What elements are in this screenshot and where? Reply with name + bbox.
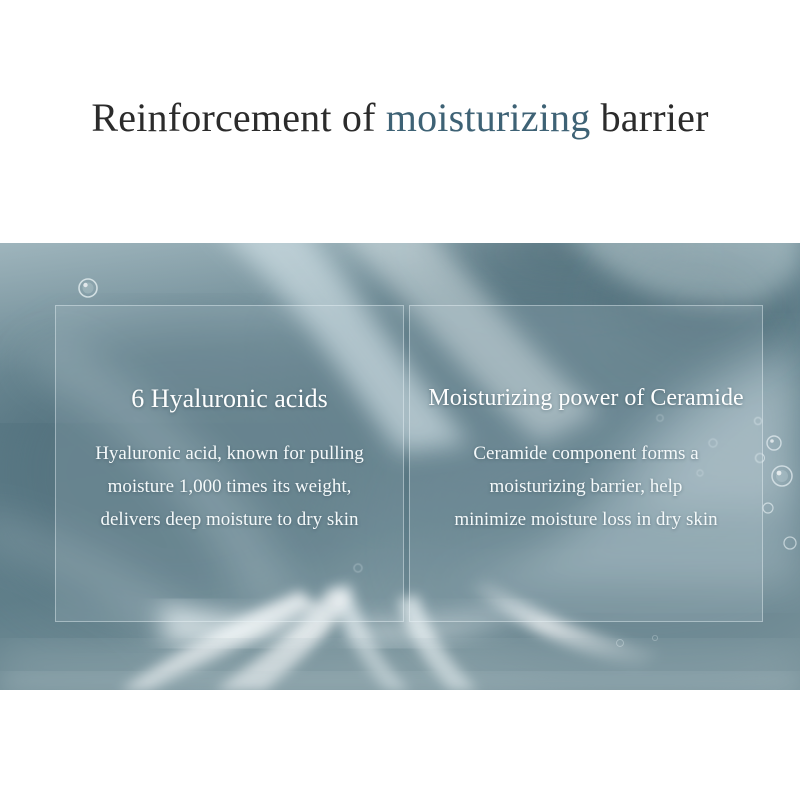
panel-body-ceramide: Ceramide component forms a moisturizing … (448, 437, 723, 536)
title-section: Reinforcement of moisturizing barrier (0, 0, 800, 243)
page-title-suffix: barrier (590, 95, 708, 140)
page-title: Reinforcement of moisturizing barrier (91, 98, 708, 138)
panel-body-line: moisturizing barrier, help (454, 470, 717, 503)
panel-heading-ceramide: Moisturizing power of Ceramide (428, 386, 743, 410)
panel-body-line: moisture 1,000 times its weight, (95, 470, 364, 503)
panel-body-line: delivers deep moisture to dry skin (95, 503, 364, 536)
panel-body-hyaluronic-acid: Hyaluronic acid, known for pulling moist… (89, 437, 370, 536)
panel-body-line: minimize moisture loss in dry skin (454, 503, 717, 536)
benefit-panel-ceramide: Moisturizing power of Ceramide Ceramide … (409, 305, 763, 622)
panel-heading-hyaluronic-acid: 6 Hyaluronic acids (131, 386, 327, 412)
page-title-prefix: Reinforcement of (91, 95, 385, 140)
water-texture-banner: 6 Hyaluronic acids Hyaluronic acid, know… (0, 243, 800, 690)
benefit-panel-hyaluronic-acid: 6 Hyaluronic acids Hyaluronic acid, know… (55, 305, 404, 622)
benefit-panels: 6 Hyaluronic acids Hyaluronic acid, know… (55, 305, 763, 622)
panel-body-line: Hyaluronic acid, known for pulling (95, 437, 364, 470)
page-title-accent: moisturizing (386, 95, 591, 140)
panel-body-line: Ceramide component forms a (454, 437, 717, 470)
